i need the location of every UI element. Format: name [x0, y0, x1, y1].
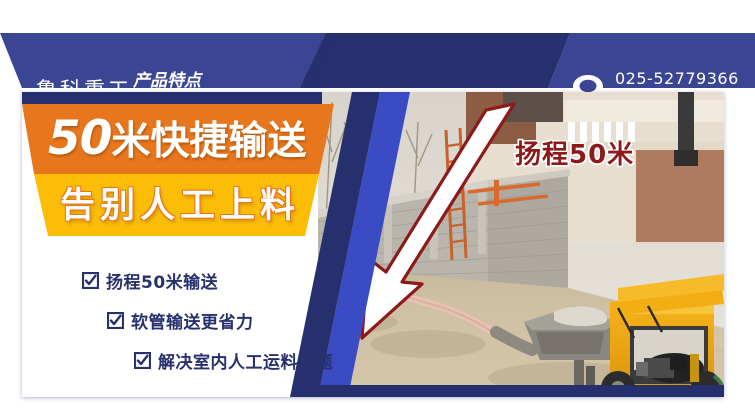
headline-primary: 50米快捷输送	[48, 109, 306, 172]
phone-number-primary: 025-52779366	[615, 69, 745, 89]
checkbox-checked-icon	[134, 352, 151, 369]
list-item: 软管输送更省力	[22, 304, 322, 336]
photo-caption: 扬程50米	[515, 134, 634, 171]
list-item-label: 扬程50米输送	[106, 268, 218, 293]
checkbox-checked-icon	[107, 312, 124, 329]
headline-rest: 米快捷输送	[111, 119, 306, 164]
card-bottom-bar	[318, 385, 724, 397]
headline-number: 50	[48, 111, 111, 166]
header-band-middle	[310, 33, 570, 88]
list-item-label: 解决室内人工运料难题	[158, 348, 333, 373]
list-item-label: 软管输送更省力	[131, 308, 254, 333]
card-top-strip	[22, 92, 322, 104]
headline-secondary: 告别人工上料	[60, 178, 300, 234]
page-root: 鲁科重工 产品特点 Product features 025-52779366 …	[0, 0, 755, 417]
list-item: 扬程50米输送	[22, 264, 322, 296]
list-item: 解决室内人工运料难题	[22, 344, 322, 376]
checkbox-checked-icon	[82, 272, 99, 289]
feature-bullet-list: 扬程50米输送 软管输送更省力 解决室内人工	[22, 264, 322, 384]
feature-card: 扬程50米 50米快捷输送 告别人工上料 扬程50米输送	[22, 92, 724, 397]
page-header: 鲁科重工 产品特点 Product features 025-52779366 …	[0, 33, 755, 88]
